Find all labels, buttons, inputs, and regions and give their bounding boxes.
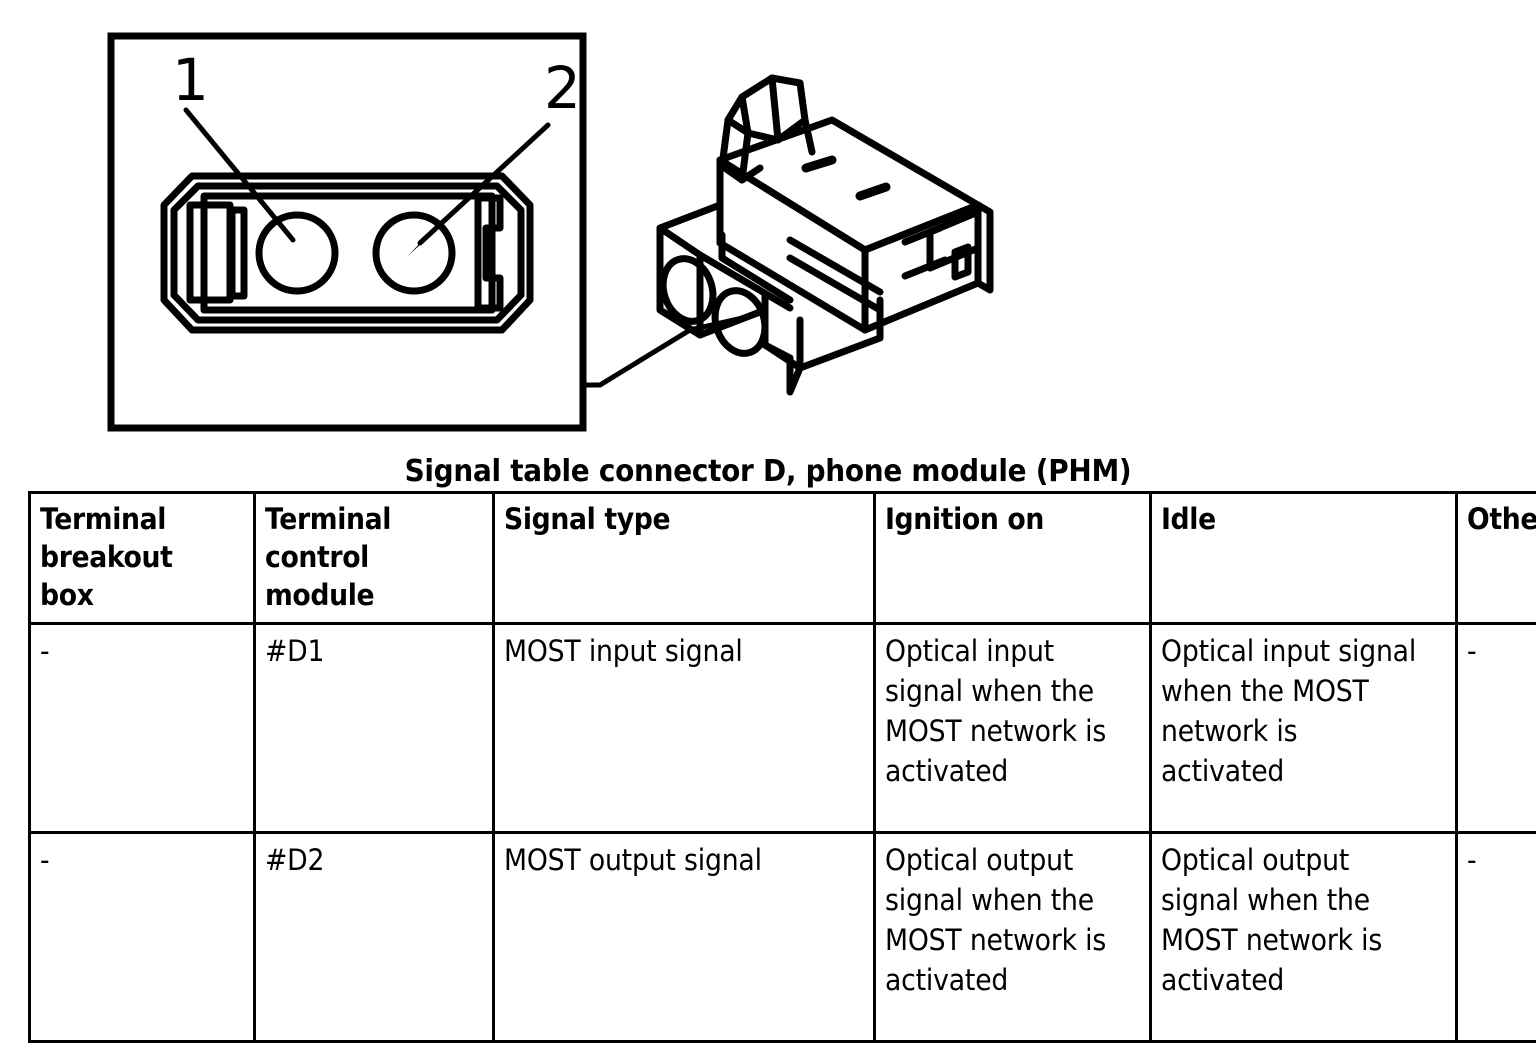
column-header-label: Other bbox=[1467, 500, 1536, 538]
cell-idle: Optical output signal when the MOST netw… bbox=[1151, 833, 1457, 1042]
column-header-other: Other bbox=[1457, 493, 1536, 624]
cell-value: - bbox=[1467, 840, 1536, 880]
column-header-terminal-control-module: Terminal control module bbox=[255, 493, 494, 624]
connector-illustration: 1 2 bbox=[0, 0, 1536, 455]
cell-value: - bbox=[40, 840, 228, 880]
signal-table-container: Terminal breakout box Terminal control m… bbox=[28, 491, 1509, 1043]
signal-table: Terminal breakout box Terminal control m… bbox=[28, 491, 1536, 1043]
cell-ignition-on: Optical input signal when the MOST netwo… bbox=[875, 624, 1151, 833]
cell-signal-type: MOST input signal bbox=[494, 624, 875, 833]
cell-value: Optical output signal when the MOST netw… bbox=[885, 840, 1120, 1000]
column-header-terminal-breakout-box: Terminal breakout box bbox=[30, 493, 255, 624]
cell-value: #D1 bbox=[265, 631, 466, 671]
cell-terminal-breakout-box: - bbox=[30, 624, 255, 833]
column-header-signal-type: Signal type bbox=[494, 493, 875, 624]
table-title: Signal table connector D, phone module (… bbox=[54, 455, 1482, 489]
cell-terminal-control-module: #D1 bbox=[255, 624, 494, 833]
cell-ignition-on: Optical output signal when the MOST netw… bbox=[875, 833, 1151, 1042]
table-header-row: Terminal breakout box Terminal control m… bbox=[30, 493, 1536, 624]
cell-value: - bbox=[40, 631, 228, 671]
column-header-label: Idle bbox=[1161, 500, 1423, 538]
column-header-label: Signal type bbox=[504, 500, 835, 538]
cell-value: - bbox=[1467, 631, 1536, 671]
column-header-ignition-on: Ignition on bbox=[875, 493, 1151, 624]
column-header-idle: Idle bbox=[1151, 493, 1457, 624]
table-row: - #D1 MOST input signal Optical input si… bbox=[30, 624, 1536, 833]
cell-terminal-breakout-box: - bbox=[30, 833, 255, 1042]
cell-value: MOST input signal bbox=[504, 631, 835, 671]
cell-terminal-control-module: #D2 bbox=[255, 833, 494, 1042]
cell-value: Optical input signal when the MOST netwo… bbox=[885, 631, 1120, 791]
cell-other: - bbox=[1457, 624, 1536, 833]
cell-other: - bbox=[1457, 833, 1536, 1042]
inset-label-2: 2 bbox=[544, 54, 581, 122]
cell-value: Optical input signal when the MOST netwo… bbox=[1161, 631, 1423, 791]
inset-label-1: 1 bbox=[172, 46, 209, 114]
column-header-label: Ignition on bbox=[885, 500, 1120, 538]
table-row: - #D2 MOST output signal Optical output … bbox=[30, 833, 1536, 1042]
cell-value: Optical output signal when the MOST netw… bbox=[1161, 840, 1423, 1000]
cell-value: MOST output signal bbox=[504, 840, 835, 880]
column-header-label: Terminal breakout box bbox=[40, 500, 228, 614]
cell-idle: Optical input signal when the MOST netwo… bbox=[1151, 624, 1457, 833]
cell-value: #D2 bbox=[265, 840, 466, 880]
cell-signal-type: MOST output signal bbox=[494, 833, 875, 1042]
column-header-label: Terminal control module bbox=[265, 500, 466, 614]
